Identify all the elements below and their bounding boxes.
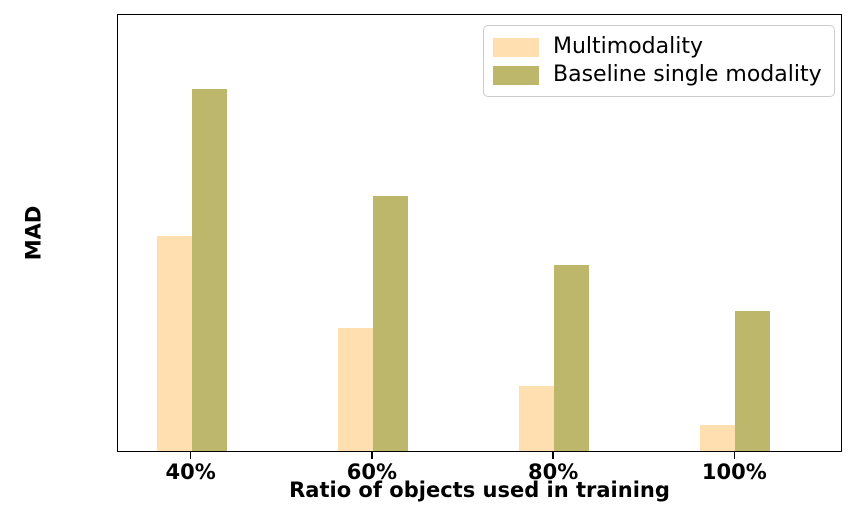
chart-legend: MultimodalityBaseline single modality — [483, 25, 835, 97]
x-tick-mark — [552, 452, 554, 459]
bar-chart-figure: 0.00800.00850.00900.00950.01000.01050.01… — [0, 0, 848, 508]
legend-label: Multimodality — [553, 36, 703, 58]
y-axis: 0.00800.00850.00900.00950.01000.01050.01… — [0, 0, 117, 508]
x-tick-mark — [190, 452, 192, 459]
y-axis-title: MAD — [21, 206, 45, 261]
x-tick-mark — [371, 452, 373, 459]
bar-multimodality-40% — [157, 236, 192, 451]
bar-multimodality-100% — [700, 425, 735, 451]
legend-swatch-icon — [493, 66, 539, 85]
bar-multimodality-80% — [519, 386, 554, 451]
x-tick-mark — [734, 452, 736, 459]
legend-item[interactable]: Baseline single modality — [493, 61, 822, 89]
legend-label: Baseline single modality — [553, 64, 822, 86]
legend-swatch-icon — [493, 38, 539, 57]
x-axis-title: Ratio of objects used in training — [117, 478, 842, 502]
bar-baseline-single-modality-40% — [192, 89, 227, 451]
legend-item[interactable]: Multimodality — [493, 33, 822, 61]
bar-baseline-single-modality-80% — [554, 265, 589, 451]
bar-baseline-single-modality-100% — [735, 311, 770, 451]
bar-multimodality-60% — [338, 328, 373, 451]
bar-baseline-single-modality-60% — [373, 196, 408, 451]
